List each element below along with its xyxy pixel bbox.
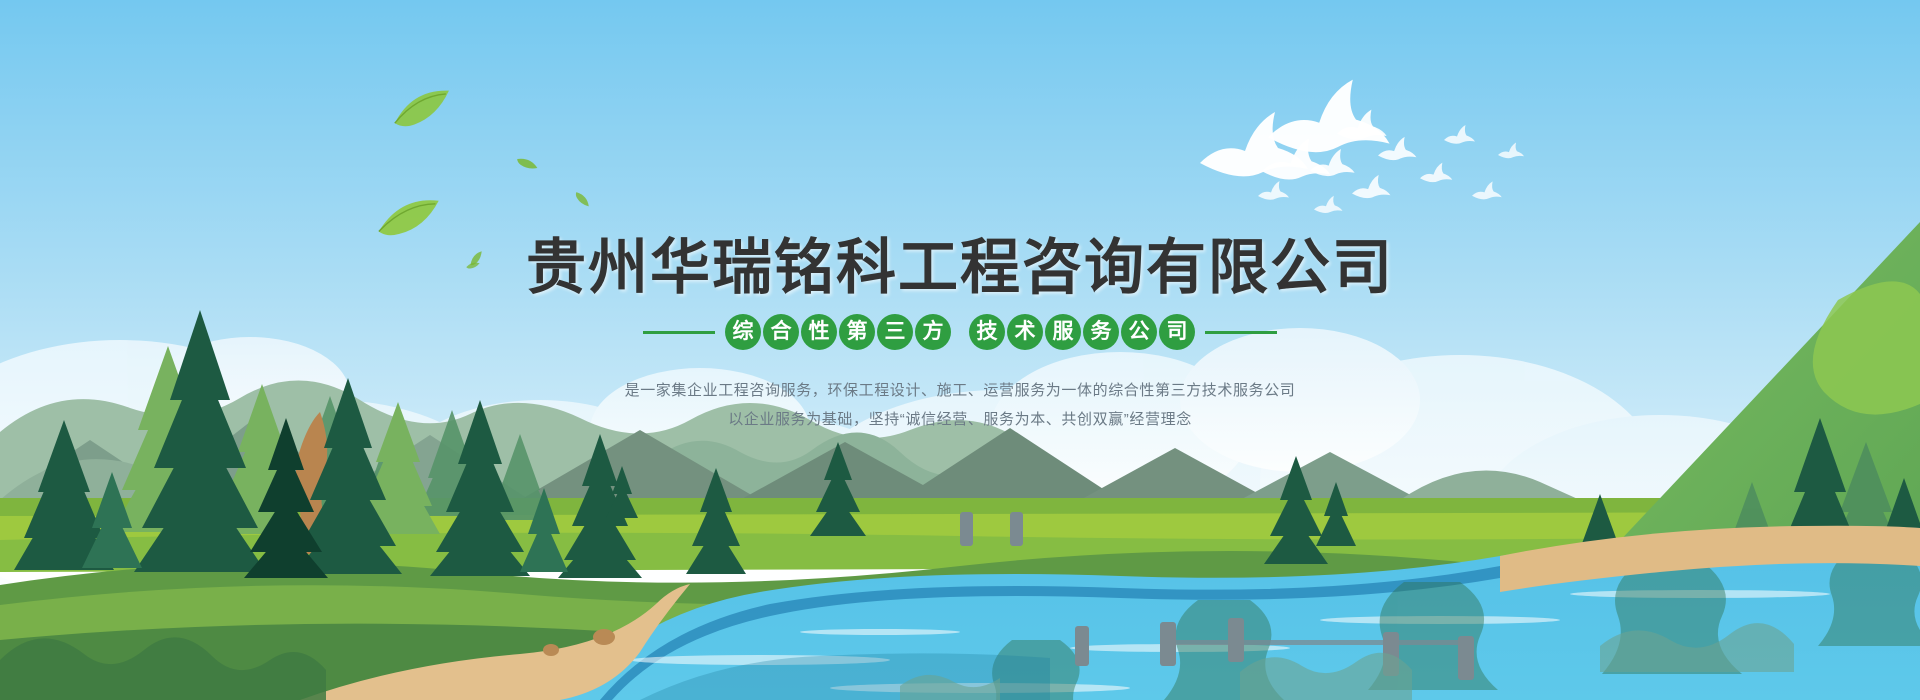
dock-rail (1160, 640, 1470, 645)
scene-illustration (0, 0, 1920, 700)
company-hero-banner: 贵州华瑞铭科工程咨询有限公司 综 合 性 第 三 方 技 术 服 务 公 司 是… (0, 0, 1920, 700)
